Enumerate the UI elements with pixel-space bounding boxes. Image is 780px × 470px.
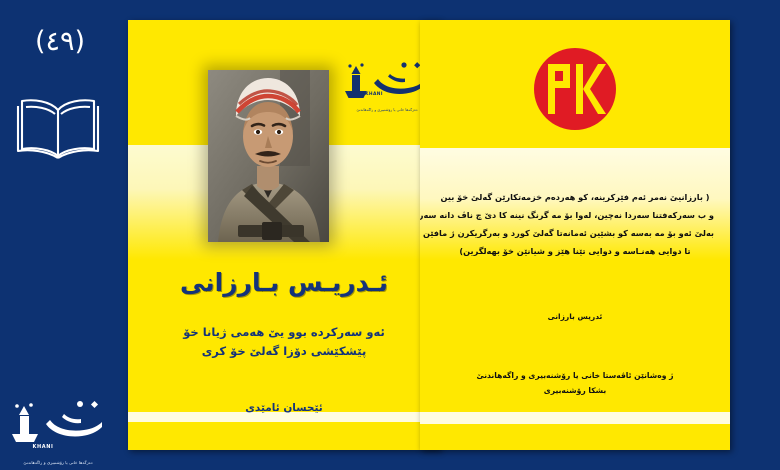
idris-barzani-portrait	[208, 70, 329, 242]
open-book-icon	[14, 92, 102, 160]
quote-attribution: ئدریس بارزانی	[420, 312, 730, 321]
pk-party-logo	[532, 46, 618, 132]
publisher-info: ژ وەشانێن ئاڤەستا خانى یا رۆشنەبیرى و را…	[420, 368, 730, 398]
khani-center-logo-cover	[342, 58, 432, 110]
cover-title: ئـدریـس بـارزانی	[128, 268, 440, 297]
rail-logo-brand-name: KHANI	[33, 444, 54, 450]
quote-line-3: بەلێ ئەو بۆ مە بەسە كو بشێین ئەمانەتا گە…	[436, 224, 714, 242]
back-cover-quote: ( بارزانیێ نەمر ئەم فێركرینه، كو هەردەم …	[436, 188, 714, 260]
cover-logo-brand: KHANI	[354, 92, 394, 98]
page-number: (٤٩)	[0, 26, 120, 57]
rail-logo-brand: KHANI	[20, 444, 66, 450]
publisher-line-2: بشكا رۆشنەبیرى	[420, 383, 730, 398]
rail-logo-subtitle: دەزگەها خانی یا رۆشنبیری و راگەهاندنێ	[2, 460, 114, 465]
left-rail: (٤٩)	[0, 0, 120, 470]
cover-author: ئێحسان ئامێدى	[128, 402, 440, 414]
book-back-cover: ( بارزانیێ نەمر ئەم فێركرینه، كو هەردەم …	[420, 20, 730, 450]
cover-subtitle-line-2: پێشكێشى دۆزا گەلێ خۆ كرى	[128, 342, 440, 361]
book-front-cover: ئـدریـس بـارزانی ئەو سەركردە بوو یێ هەمى…	[128, 20, 440, 450]
quote-line-4: تا دوایى هەنـاسە و دوایى تێنا هێز و شیان…	[436, 242, 714, 260]
cover-subtitle-line-1: ئەو سەركردە بوو یێ هەمى ژیانا خۆ	[128, 323, 440, 342]
cover-subtitle: ئەو سەركردە بوو یێ هەمى ژیانا خۆ پێشكێشى…	[128, 323, 440, 361]
cover-logo-brand-name: KHANI	[365, 92, 383, 97]
slide-canvas: (٤٩)	[0, 0, 780, 470]
publisher-line-1: ژ وەشانێن ئاڤەستا خانى یا رۆشنەبیرى و را…	[420, 368, 730, 383]
back-footer-band	[420, 412, 730, 424]
quote-line-2: و ب سەركەفتنا سەردا نەچین، لەوا بۆ مە گر…	[436, 206, 714, 224]
quote-line-1: ( بارزانیێ نەمر ئەم فێركرینه، كو هەردەم …	[436, 188, 714, 206]
